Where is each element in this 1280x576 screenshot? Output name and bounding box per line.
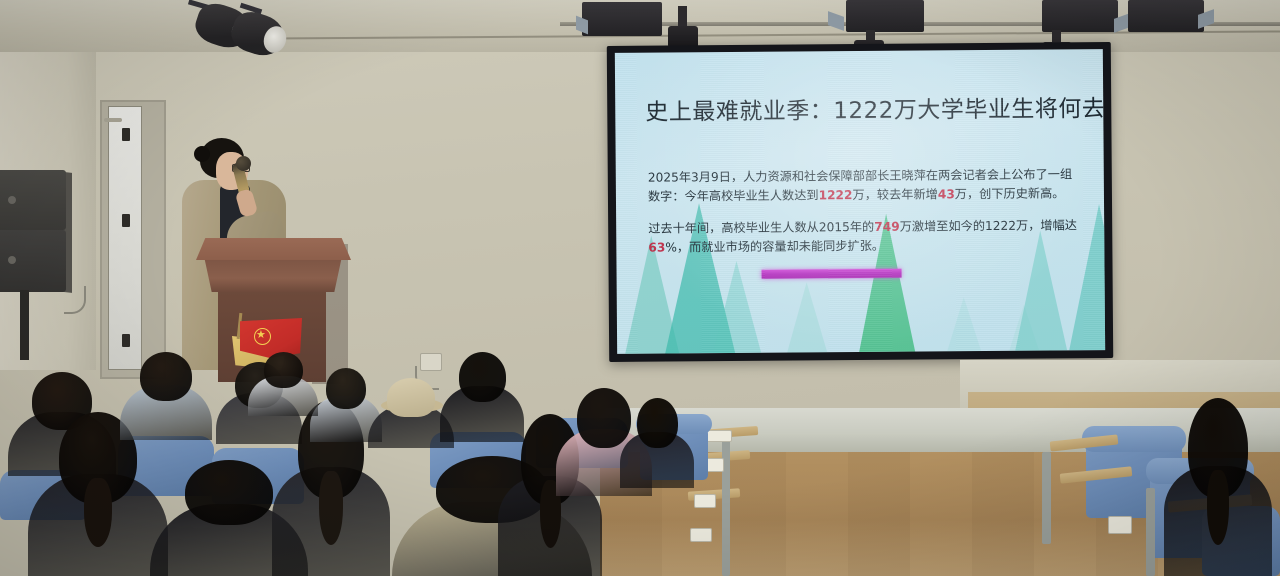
projected-slide: 史上最难就业季：1222万大学毕业生将何去何从？ 2025年3月9日，人力资源和…	[615, 49, 1105, 354]
door-hinge-icon	[122, 214, 130, 227]
desk-clip	[694, 494, 716, 508]
desk-support-leg	[1146, 488, 1155, 576]
pine-tree-icon	[947, 297, 981, 351]
slide-title: 史上最难就业季：1222万大学毕业生将何去何从？	[645, 97, 1087, 126]
slide-text-run: 万激增至如今的1222万，增幅达	[900, 218, 1077, 233]
audience-head	[326, 368, 366, 409]
stage-light-barn-door	[582, 2, 662, 36]
podium-top	[196, 238, 351, 260]
slide-body-text: 2025年3月9日，人力资源和社会保障部部长王晓萍在两会记者会上公布了一组数字：…	[648, 165, 1083, 270]
audience-member	[120, 352, 212, 440]
highlighted-number: 749	[874, 220, 900, 234]
slide-paragraph-1: 2025年3月9日，人力资源和社会保障部部长王晓萍在两会记者会上公布了一组数字：…	[648, 165, 1082, 206]
ponytail	[84, 478, 112, 547]
stage-light-barn-door	[1042, 0, 1118, 32]
ponytail	[319, 471, 343, 545]
slide-text-run: 万，创下历史新高。	[955, 186, 1065, 201]
desk-support-leg	[1042, 452, 1051, 544]
desk-clip	[1108, 516, 1132, 534]
pine-tree-icon	[712, 261, 761, 353]
laser-pointer-highlight-bar	[762, 269, 902, 279]
desk-clip	[706, 430, 732, 442]
slide-paragraph-2: 过去十年间，高校毕业生人数从2015年的749万激增至如今的1222万，增幅达6…	[648, 216, 1082, 257]
audience-head	[140, 352, 192, 401]
slide-text-run: 过去十年间，高校毕业生人数从2015年的	[648, 220, 874, 236]
audience-member	[1164, 398, 1272, 576]
audience-member	[620, 398, 694, 488]
door-handle[interactable]	[104, 118, 122, 122]
highlighted-number: 63	[648, 240, 665, 254]
slide-text-run: %，而就业市场的容量却未能同步扩张。	[665, 239, 884, 255]
door-hinge-icon	[122, 334, 130, 347]
speaker-logo-icon	[8, 256, 16, 264]
flag-star-icon: ★	[256, 330, 266, 341]
presenter-hair-bun	[194, 146, 210, 162]
audience-head	[459, 352, 506, 402]
speaker-logo-icon	[8, 196, 16, 204]
ponytail	[1207, 470, 1229, 545]
lecture-hall-photo: 史上最难就业季：1222万大学毕业生将何去何从？ 2025年3月9日，人力资源和…	[0, 0, 1280, 576]
audience-head	[185, 460, 273, 525]
audience-member	[248, 352, 318, 416]
speaker-stand-pole	[20, 290, 29, 360]
baseball-cap	[387, 378, 435, 417]
desk-support-leg	[722, 436, 730, 576]
projection-screen: 史上最难就业季：1222万大学毕业生将何去何从？ 2025年3月9日，人力资源和…	[607, 42, 1113, 362]
stage-light-barn-door	[846, 0, 924, 32]
audience-head	[264, 352, 303, 388]
door-glass-panel	[108, 106, 142, 370]
audience-head	[637, 398, 678, 448]
pine-tree-icon	[787, 282, 828, 352]
podium-mid-panel	[200, 258, 346, 292]
door-hinge-icon	[122, 128, 130, 141]
desk-clip	[690, 528, 712, 542]
slide-text-run: 万，较去年新增	[852, 187, 937, 202]
highlighted-number: 1222	[819, 188, 853, 202]
stage-light-barn-door	[1128, 0, 1204, 32]
stage-light-neck	[678, 6, 687, 28]
highlighted-number: 43	[938, 187, 955, 201]
